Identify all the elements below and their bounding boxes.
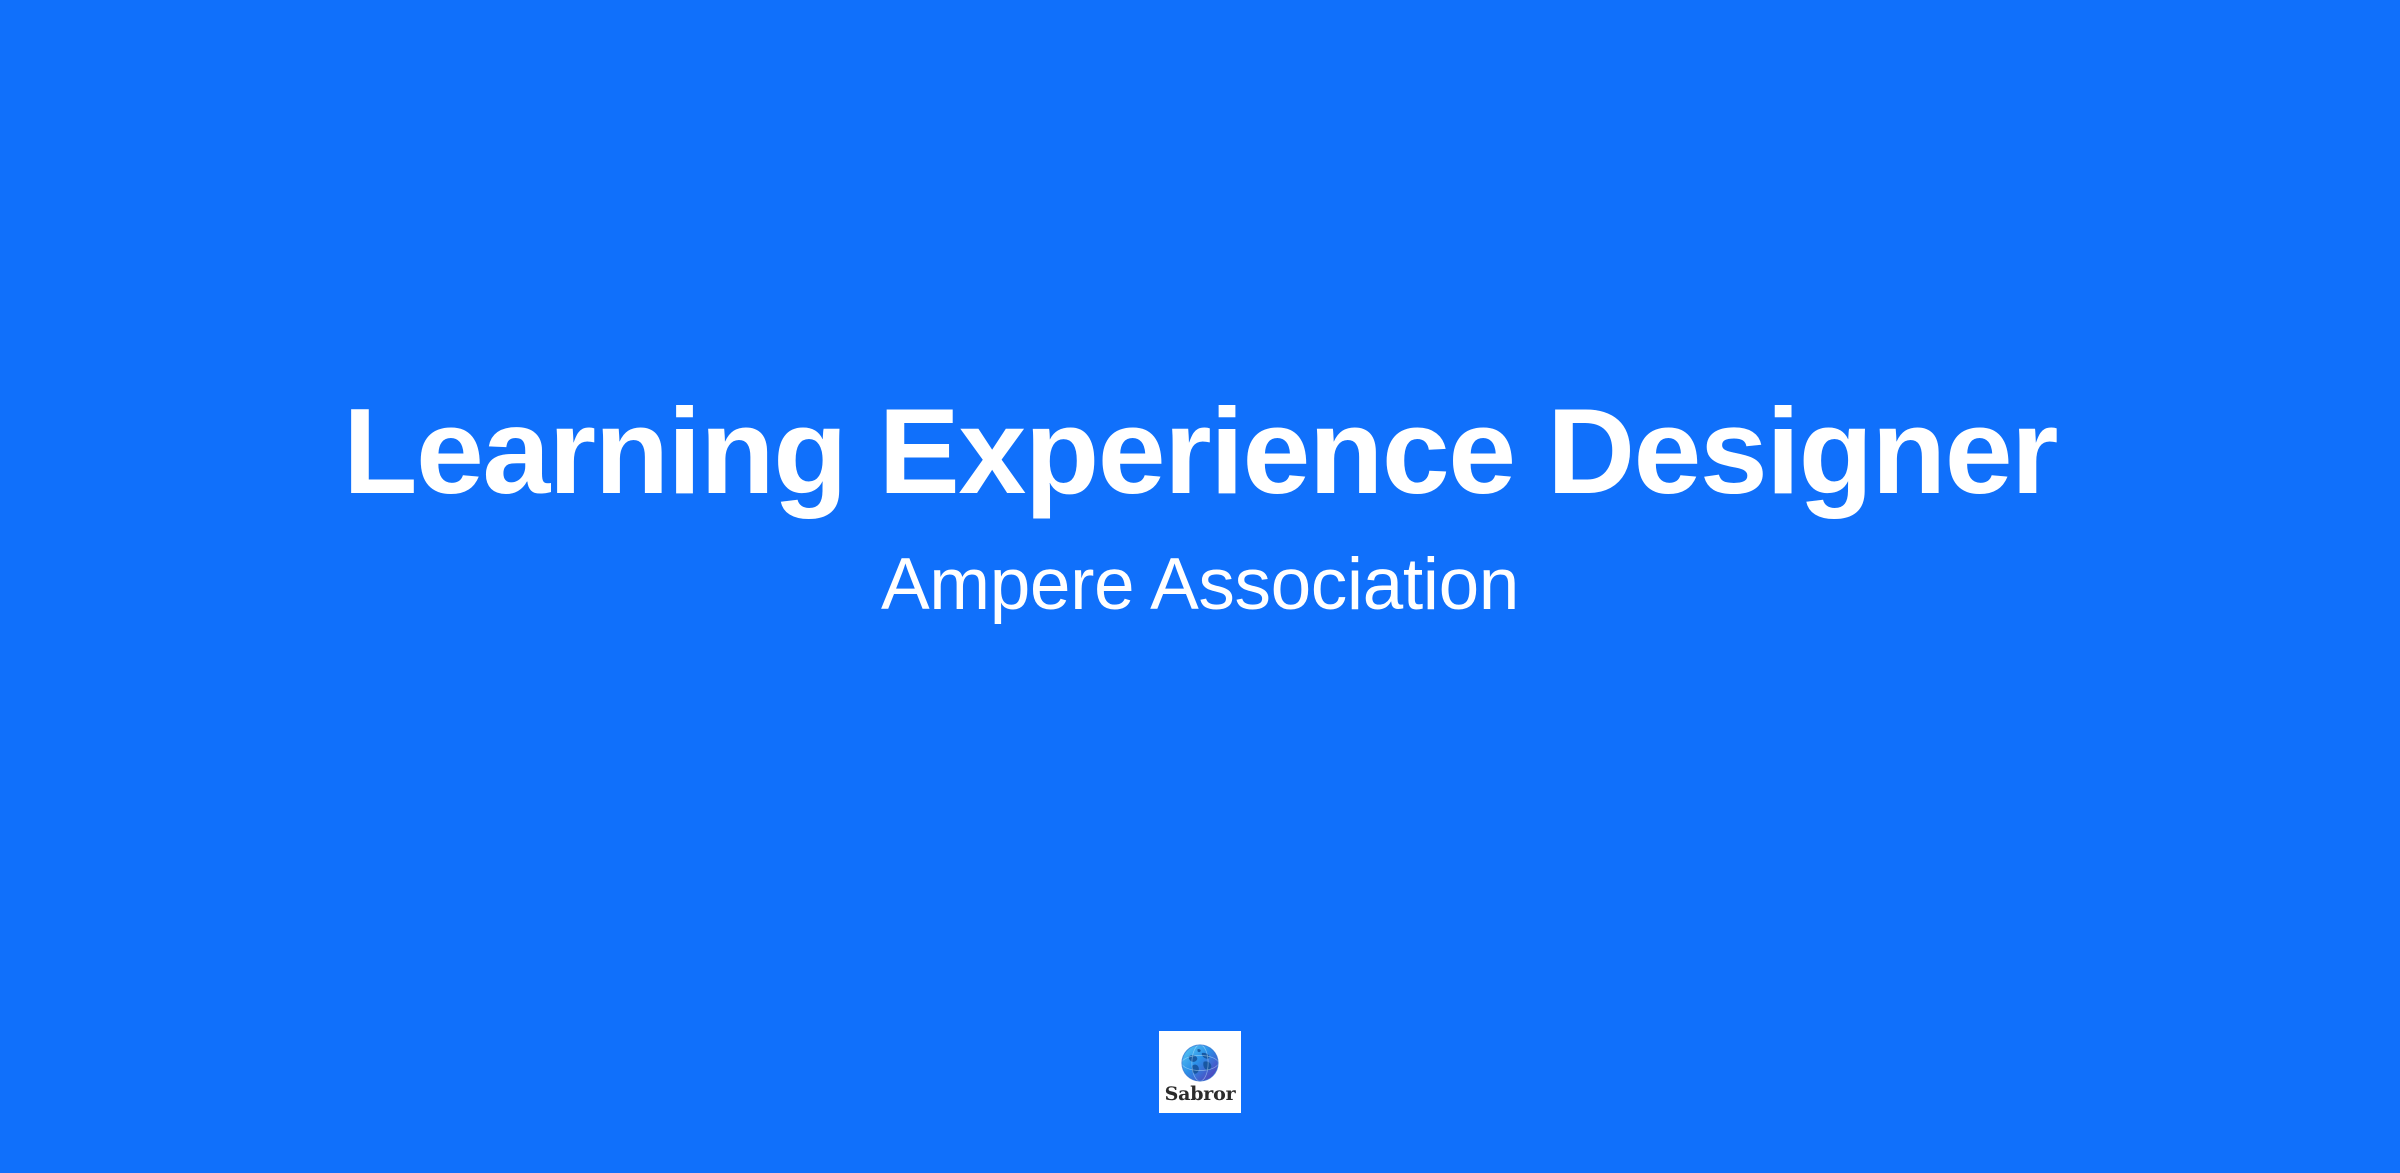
- globe-icon: [1180, 1043, 1220, 1083]
- brand-logo: Sabror: [1159, 1031, 1241, 1113]
- hero-text-block: Learning Experience Designer Ampere Asso…: [0, 0, 2400, 1173]
- page-subtitle: Ampere Association: [881, 512, 1519, 621]
- title-slide: Learning Experience Designer Ampere Asso…: [0, 0, 2400, 1173]
- page-title: Learning Experience Designer: [343, 390, 2057, 512]
- logo-wordmark: Sabror: [1165, 1085, 1236, 1104]
